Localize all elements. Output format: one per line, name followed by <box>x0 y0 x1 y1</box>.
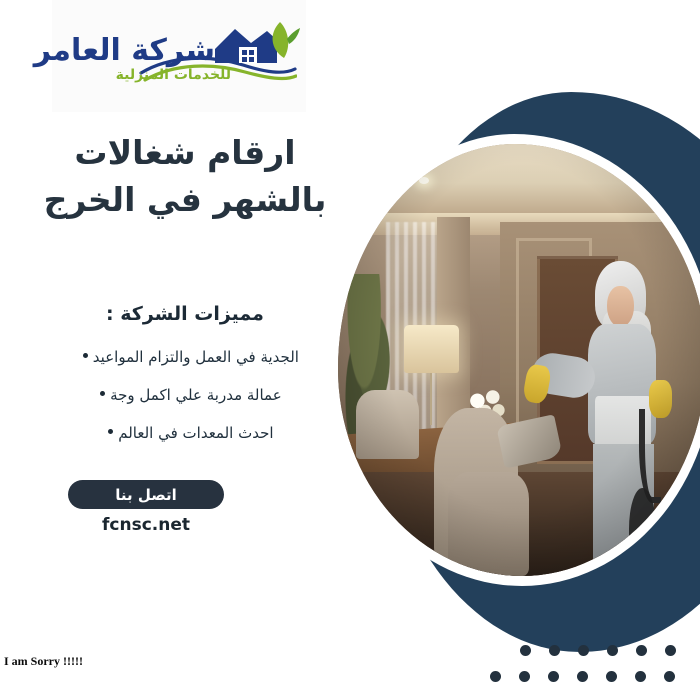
dot <box>548 671 559 682</box>
dot <box>607 645 618 656</box>
list-item: الجدية في العمل والتزام المواعيد <box>30 348 340 366</box>
contact-us-button[interactable]: اتصل بنا <box>68 480 224 509</box>
dot-row-top <box>520 645 676 656</box>
dot <box>635 671 646 682</box>
feature-text: عمالة مدربة علي اكمل وجة <box>110 386 282 404</box>
dot <box>549 645 560 656</box>
feature-text: احدث المعدات في العالم <box>118 424 273 442</box>
list-item: احدث المعدات في العالم <box>30 424 340 442</box>
logo-tagline: للخدمات المنزلية <box>116 67 231 83</box>
bullet-icon <box>108 429 113 434</box>
dot-grid-decoration <box>490 645 676 697</box>
hero-photo <box>338 144 700 576</box>
dot <box>664 671 675 682</box>
dot-row-bottom <box>490 671 676 682</box>
dot <box>606 671 617 682</box>
logo-inner: شركة العامر للخدمات المنزلية <box>59 17 299 95</box>
dot <box>519 671 530 682</box>
poster-canvas: شركة العامر للخدمات المنزلية ارقام شغالا… <box>0 0 700 700</box>
dot <box>665 645 676 656</box>
bullet-icon <box>100 391 105 396</box>
headline-line-1: ارقام شغالات <box>74 133 295 172</box>
logo-brand-name: شركة العامر <box>34 33 215 68</box>
company-logo: شركة العامر للخدمات المنزلية <box>52 0 306 112</box>
watermark-text: I am Sorry !!!!! <box>4 654 83 669</box>
features-list: الجدية في العمل والتزام المواعيد عمالة م… <box>30 348 340 462</box>
dot <box>578 645 589 656</box>
photo-scene <box>338 144 700 576</box>
bullet-icon <box>83 353 88 358</box>
page-title: ارقام شغالات بالشهر في الخرج <box>30 130 340 224</box>
feature-text: الجدية في العمل والتزام المواعيد <box>93 348 299 366</box>
dot <box>636 645 647 656</box>
photo-vignette <box>338 144 700 576</box>
dot <box>520 645 531 656</box>
features-heading: مميزات الشركة : <box>30 303 340 325</box>
website-url[interactable]: fcnsc.net <box>68 515 224 535</box>
list-item: عمالة مدربة علي اكمل وجة <box>30 386 340 404</box>
dot <box>490 671 501 682</box>
headline-line-2: بالشهر في الخرج <box>30 177 340 224</box>
leaf-icon <box>267 19 301 59</box>
dot <box>577 671 588 682</box>
